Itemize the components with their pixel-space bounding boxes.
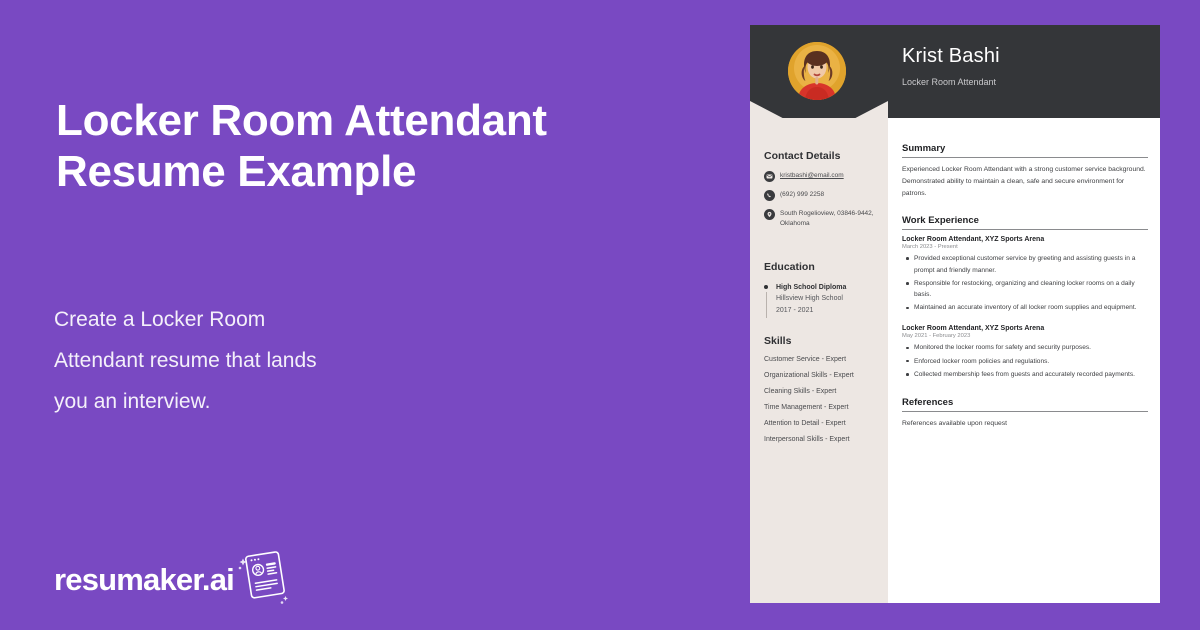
summary-heading: Summary: [902, 143, 1148, 158]
page-title: Locker Room Attendant Resume Example: [56, 96, 616, 197]
resume-job-title: Locker Room Attendant: [902, 77, 996, 87]
education-degree: High School Diploma: [776, 282, 876, 293]
education-entry: High School Diploma Hillsview High Schoo…: [764, 282, 876, 317]
work-experience-entry: Locker Room Attendant, XYZ Sports Arena …: [902, 236, 1148, 314]
list-item: Interpersonal Skills - Expert: [764, 436, 876, 443]
contact-email[interactable]: kristbashi@email.com: [764, 171, 876, 182]
avatar: [788, 42, 846, 100]
contact-email-text: kristbashi@email.com: [780, 171, 844, 181]
subtitle-line-1: Create a Locker Room: [54, 300, 454, 341]
phone-icon: [764, 190, 775, 201]
subtitle-line-2: Attendant resume that lands: [54, 341, 454, 382]
logo-wordmark: resumaker.ai: [54, 562, 234, 598]
list-item: Responsible for restocking, organizing a…: [902, 278, 1148, 301]
contact-details-heading: Contact Details: [764, 150, 876, 162]
list-item: Monitored the locker rooms for safety an…: [902, 342, 1148, 353]
promo-panel: Locker Room Attendant Resume Example Cre…: [0, 0, 750, 630]
job-title: Locker Room Attendant, XYZ Sports Arena: [902, 236, 1148, 243]
list-item: Provided exceptional customer service by…: [902, 253, 1148, 276]
list-item: Customer Service - Expert: [764, 356, 876, 363]
contact-address-text: South Rogelioview, 03846-9442, Oklahoma: [780, 209, 876, 229]
education-bullet-icon: [764, 285, 768, 289]
headline-line-2: Resume Example: [56, 147, 616, 198]
list-item: Maintained an accurate inventory of all …: [902, 302, 1148, 313]
list-item: Enforced locker room policies and regula…: [902, 356, 1148, 367]
resume-name: Krist Bashi: [902, 45, 1000, 68]
location-pin-icon: [764, 209, 775, 220]
job-title: Locker Room Attendant, XYZ Sports Arena: [902, 325, 1148, 332]
education-years: 2017 - 2021: [776, 305, 876, 317]
education-school: Hillsview High School: [776, 293, 876, 305]
skills-heading: Skills: [764, 335, 876, 347]
list-item: Collected membership fees from guests an…: [902, 369, 1148, 380]
contact-phone[interactable]: (692) 999 2258: [764, 190, 876, 201]
contact-phone-text: (692) 999 2258: [780, 190, 824, 200]
resume-header-banner: Krist Bashi Locker Room Attendant: [750, 25, 1160, 118]
education-heading: Education: [764, 261, 876, 273]
list-item: Time Management - Expert: [764, 404, 876, 411]
contact-address: South Rogelioview, 03846-9442, Oklahoma: [764, 209, 876, 229]
job-date: May 2021 - February 2023: [902, 333, 1148, 339]
resume-sidebar: Contact Details kristbashi@email.com (69…: [764, 150, 876, 452]
resume-preview-card[interactable]: Krist Bashi Locker Room Attendant Contac…: [750, 25, 1160, 603]
list-item: Cleaning Skills - Expert: [764, 388, 876, 395]
headline-line-1: Locker Room Attendant: [56, 96, 616, 147]
skills-list: Customer Service - Expert Organizational…: [764, 356, 876, 443]
resume-main-column: Summary Experienced Locker Room Attendan…: [902, 143, 1148, 430]
promo-subtitle: Create a Locker Room Attendant resume th…: [54, 300, 454, 423]
references-heading: References: [902, 397, 1148, 412]
summary-text: Experienced Locker Room Attendant with a…: [902, 164, 1148, 200]
job-date: March 2023 - Present: [902, 244, 1148, 250]
job-bullet-list: Monitored the locker rooms for safety an…: [902, 342, 1148, 380]
resumaker-logo[interactable]: resumaker.ai: [54, 552, 292, 608]
envelope-icon: [764, 171, 775, 182]
resume-document-icon: [236, 552, 292, 608]
work-experience-heading: Work Experience: [902, 215, 1148, 230]
references-text: References available upon request: [902, 418, 1148, 430]
subtitle-line-3: you an interview.: [54, 382, 454, 423]
education-timeline-line: [766, 292, 767, 318]
job-bullet-list: Provided exceptional customer service by…: [902, 253, 1148, 314]
list-item: Organizational Skills - Expert: [764, 372, 876, 379]
list-item: Attention to Detail - Expert: [764, 420, 876, 427]
work-experience-entry: Locker Room Attendant, XYZ Sports Arena …: [902, 325, 1148, 380]
